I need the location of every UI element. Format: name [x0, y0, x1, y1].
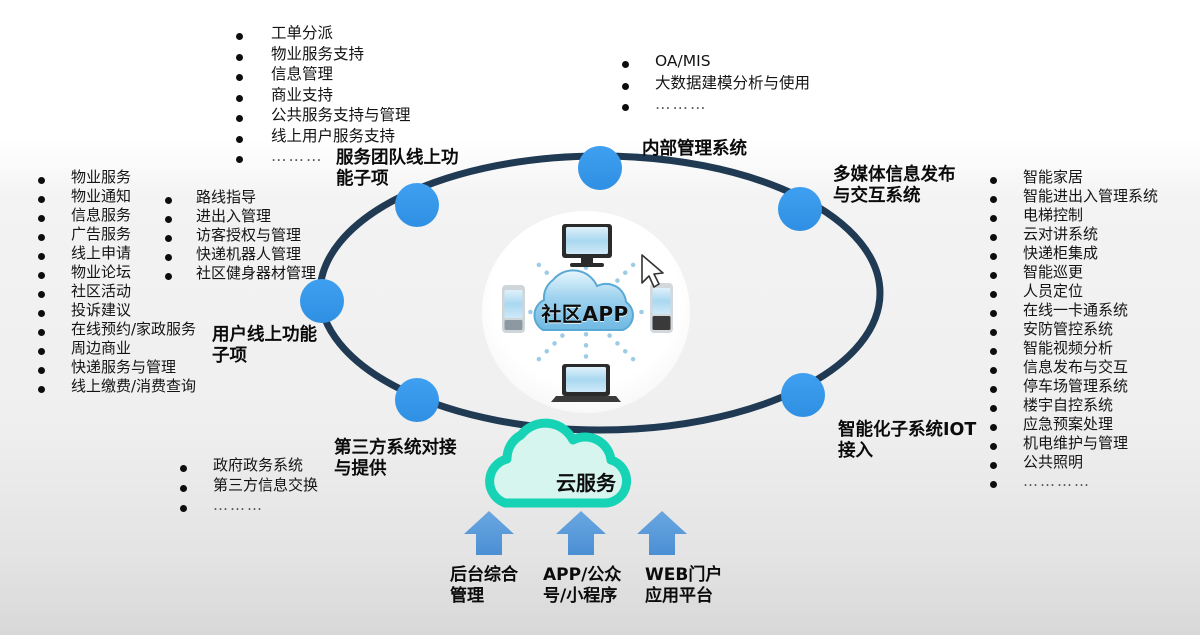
arrow-app [556, 511, 606, 555]
list-item-label: 快递服务与管理 [71, 360, 176, 375]
list-item-label: 路线指导 [196, 190, 256, 205]
bullet-icon [990, 291, 997, 298]
bullet-icon [38, 234, 45, 241]
list-item-label: 信息服务 [71, 208, 131, 223]
bullet-icon [38, 196, 45, 203]
bullet-icon [990, 481, 997, 488]
list-item: ………… [990, 474, 1158, 489]
list-item: OA/MIS [622, 54, 810, 70]
arrow-web [637, 511, 687, 555]
list-item-label: 访客授权与管理 [196, 228, 301, 243]
list-item: ……… [236, 149, 411, 165]
list-item-label: 物业通知 [71, 189, 131, 204]
platform-label-web: WEB门户 应用平台 [645, 565, 755, 608]
bullet-icon [990, 443, 997, 450]
list-item-label: 周边商业 [71, 341, 131, 356]
bullet-icon [236, 74, 243, 81]
list-item: 在线一卡通系统 [990, 303, 1158, 318]
bullet-icon [165, 273, 172, 280]
bullet-icon [38, 329, 45, 336]
bullet-icon [38, 386, 45, 393]
list-item: 智能进出入管理系统 [990, 189, 1158, 204]
list-service-team: 工单分派物业服务支持信息管理商业支持公共服务支持与管理线上用户服务支持……… [236, 26, 411, 170]
list-item-label: 人员定位 [1023, 284, 1083, 299]
node-multimedia[interactable] [778, 187, 822, 231]
list-item-label: 智能视频分析 [1023, 341, 1113, 356]
bullet-icon [622, 61, 629, 68]
list-item-label: 智能家居 [1023, 170, 1083, 185]
center-app-cluster: 社区APP [485, 215, 685, 410]
list-user-online-b: 路线指导进出入管理访客授权与管理快递机器人管理社区健身器材管理 [165, 190, 316, 285]
list-item-label: 停车场管理系统 [1023, 379, 1128, 394]
bullet-icon [165, 254, 172, 261]
bullet-icon [236, 54, 243, 61]
list-item: 周边商业 [38, 341, 196, 356]
bullet-icon [990, 405, 997, 412]
node-internal-management[interactable] [578, 146, 622, 190]
list-item: 线上缴费/消费查询 [38, 379, 196, 394]
list-item-label: 公共服务支持与管理 [271, 108, 411, 124]
bullet-icon [990, 329, 997, 336]
node-iot[interactable] [781, 373, 825, 417]
list-item-label: ……… [655, 97, 708, 113]
arrow-backend [464, 511, 514, 555]
list-item: 智能视频分析 [990, 341, 1158, 356]
list-item: 在线预约/家政服务 [38, 322, 196, 337]
bullet-icon [990, 234, 997, 241]
list-item-label: 物业论坛 [71, 265, 131, 280]
list-item: 应急预案处理 [990, 417, 1158, 432]
bullet-icon [38, 310, 45, 317]
list-item-label: OA/MIS [655, 54, 711, 70]
platform-label-app: APP/公众 号/小程序 [543, 565, 653, 608]
list-item: 公共照明 [990, 455, 1158, 470]
list-item-label: 社区活动 [71, 284, 131, 299]
list-item: 快递服务与管理 [38, 360, 196, 375]
list-item-label: 公共照明 [1023, 455, 1083, 470]
list-item-label: 在线一卡通系统 [1023, 303, 1128, 318]
list-item: 线上用户服务支持 [236, 129, 411, 145]
list-item-label: 应急预案处理 [1023, 417, 1113, 432]
list-item: 智能家居 [990, 170, 1158, 185]
bullet-icon [990, 310, 997, 317]
list-item: 政府政务系统 [180, 458, 318, 473]
list-item: 进出入管理 [165, 209, 316, 224]
list-item: 安防管控系统 [990, 322, 1158, 337]
bullet-icon [990, 177, 997, 184]
bullet-icon [990, 215, 997, 222]
node-third-party[interactable] [395, 378, 439, 422]
bullet-icon [38, 367, 45, 374]
bullet-icon [236, 115, 243, 122]
list-item-label: 安防管控系统 [1023, 322, 1113, 337]
bullet-icon [165, 197, 172, 204]
list-item-label: ……… [271, 149, 324, 165]
list-item-label: 物业服务 [71, 170, 131, 185]
bullet-icon [38, 272, 45, 279]
list-item-label: 智能进出入管理系统 [1023, 189, 1158, 204]
node-user-online[interactable] [300, 279, 344, 323]
bullet-icon [180, 485, 187, 492]
list-item: 楼宇自控系统 [990, 398, 1158, 413]
list-item-label: 机电维护与管理 [1023, 436, 1128, 451]
list-item: 商业支持 [236, 88, 411, 104]
list-item-label: 广告服务 [71, 227, 131, 242]
bullet-icon [990, 367, 997, 374]
list-item-label: 工单分派 [271, 26, 333, 42]
list-item-label: 信息发布与交互 [1023, 360, 1128, 375]
list-item-label: 第三方信息交换 [213, 478, 318, 493]
list-item-label: 在线预约/家政服务 [71, 322, 196, 337]
bullet-icon [622, 83, 629, 90]
list-item: 人员定位 [990, 284, 1158, 299]
list-iot: 智能家居智能进出入管理系统电梯控制云对讲系统快递柜集成智能巡更人员定位在线一卡通… [990, 170, 1158, 493]
list-item-label: 云对讲系统 [1023, 227, 1098, 242]
cloud-service-label: 云服务 [498, 459, 674, 503]
list-item: 物业服务 [38, 170, 196, 185]
bullet-icon [990, 462, 997, 469]
bullet-icon [38, 291, 45, 298]
list-item: 访客授权与管理 [165, 228, 316, 243]
list-item: 投诉建议 [38, 303, 196, 318]
caption-internal-management: 内部管理系统 [642, 139, 747, 160]
list-item-label: 大数据建模分析与使用 [655, 76, 810, 92]
list-item: 公共服务支持与管理 [236, 108, 411, 124]
list-item: 快递机器人管理 [165, 247, 316, 262]
caption-multimedia: 多媒体信息发布 与交互系统 [833, 165, 956, 208]
caption-user-online: 用户线上功能 子项 [212, 325, 317, 368]
bullet-icon [236, 33, 243, 40]
bullet-icon [990, 386, 997, 393]
list-item-label: 商业支持 [271, 88, 333, 104]
list-item-label: 快递柜集成 [1023, 246, 1098, 261]
platform-arrows [464, 511, 687, 555]
bullet-icon [165, 216, 172, 223]
list-third-party: 政府政务系统第三方信息交换……… [180, 458, 318, 518]
list-item: 物业服务支持 [236, 47, 411, 63]
bullet-icon [165, 235, 172, 242]
list-item-label: 政府政务系统 [213, 458, 303, 473]
list-item: 智能巡更 [990, 265, 1158, 280]
list-item: 电梯控制 [990, 208, 1158, 223]
list-item: 社区健身器材管理 [165, 266, 316, 281]
bullet-icon [236, 156, 243, 163]
bullet-icon [38, 177, 45, 184]
list-item-label: ………… [1023, 474, 1091, 489]
list-item-label: 物业服务支持 [271, 47, 364, 63]
diagram-canvas: 社区APP 云服务 服务团队线上功 能子项 内部管理系统 多媒体信息发布 与交互… [0, 0, 1200, 635]
list-item-label: 智能巡更 [1023, 265, 1083, 280]
list-item: ……… [180, 498, 318, 513]
list-internal-management: OA/MIS大数据建模分析与使用……… [622, 54, 810, 119]
list-item: 停车场管理系统 [990, 379, 1158, 394]
bullet-icon [236, 136, 243, 143]
list-item: 路线指导 [165, 190, 316, 205]
list-item-label: 楼宇自控系统 [1023, 398, 1113, 413]
bullet-icon [236, 95, 243, 102]
bullet-icon [990, 196, 997, 203]
list-item: 社区活动 [38, 284, 196, 299]
list-item-label: 进出入管理 [196, 209, 271, 224]
bullet-icon [990, 272, 997, 279]
bullet-icon [38, 215, 45, 222]
list-item: 快递柜集成 [990, 246, 1158, 261]
list-item-label: 快递机器人管理 [196, 247, 301, 262]
list-item-label: 电梯控制 [1023, 208, 1083, 223]
list-item-label: 线上缴费/消费查询 [71, 379, 196, 394]
list-item: 信息管理 [236, 67, 411, 83]
bullet-icon [990, 348, 997, 355]
list-item-label: 线上申请 [71, 246, 131, 261]
list-item: 信息发布与交互 [990, 360, 1158, 375]
bullet-icon [180, 465, 187, 472]
caption-iot: 智能化子系统IOT 接入 [838, 420, 976, 463]
list-item: ……… [622, 97, 810, 113]
list-item-label: 投诉建议 [71, 303, 131, 318]
list-item: 第三方信息交换 [180, 478, 318, 493]
bullet-icon [990, 424, 997, 431]
list-item-label: 线上用户服务支持 [271, 129, 395, 145]
list-item-label: 社区健身器材管理 [196, 266, 316, 281]
bullet-icon [38, 348, 45, 355]
bullet-icon [990, 253, 997, 260]
list-item: 大数据建模分析与使用 [622, 76, 810, 92]
list-item: 工单分派 [236, 26, 411, 42]
bullet-icon [180, 505, 187, 512]
bullet-icon [38, 253, 45, 260]
list-item: 云对讲系统 [990, 227, 1158, 242]
list-item-label: 信息管理 [271, 67, 333, 83]
list-item-label: ……… [213, 498, 264, 513]
bullet-icon [622, 104, 629, 111]
list-item: 机电维护与管理 [990, 436, 1158, 451]
caption-third-party: 第三方系统对接 与提供 [334, 438, 457, 481]
center-app-label: 社区APP [485, 215, 685, 410]
